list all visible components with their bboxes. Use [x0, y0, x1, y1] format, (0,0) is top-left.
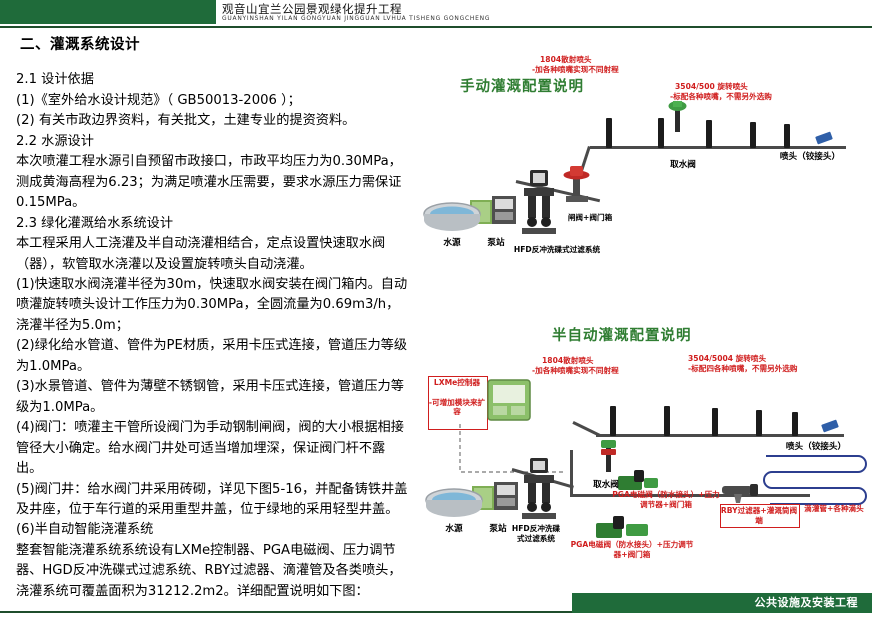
rby-filter-icon — [720, 474, 760, 504]
semi-water-source-icon — [424, 484, 484, 522]
diagram-semi-title: 半自动灌溉配置说明 — [552, 324, 692, 345]
semi-branch-pipe — [572, 421, 600, 437]
semi-sprinkler-riser-5 — [792, 412, 798, 436]
semi-label-drip-tube: 滴灌管+各种滴头 — [796, 504, 872, 514]
semi-sprinkler-riser-4 — [756, 410, 762, 436]
semi-label-rby-filter: RBY过滤器+灌溉筒阀端 — [720, 506, 798, 526]
diagram-manual-title: 手动灌溉配置说明 — [460, 75, 584, 96]
semi-sprinkler-body-blue — [821, 420, 839, 433]
paragraph-item-5: (5)阀门井：给水阀门井采用砖砌，详见下图5-16，并配备铸铁井盖及井座，位于车… — [16, 480, 411, 521]
controller-cabinet-icon — [486, 376, 532, 424]
paragraph-2-1-heading: 2.1 设计依据 — [16, 70, 411, 90]
annotation-semi-3504-desc: -标配四各种喷嘴，不需另外选购 — [688, 364, 797, 374]
semi-pipe-vertical-link — [570, 450, 573, 496]
annotation-semi-3504-title: 3504/5004 旋转喷头 — [688, 354, 766, 364]
semi-label-pga-upper: PGA电磁阀（防水接头）+压力调节器+阀门箱 — [612, 490, 720, 510]
page-header: 观音山宜兰公园景观绿化提升工程 GUANYINSHAN YILAN GONGYU… — [0, 0, 872, 28]
paragraph-item-2: (2)绿化给水管道、管件为PE材质，采用卡压式连接，管道压力等级为1.0MPa。 — [16, 336, 411, 377]
paragraph-item-3: (3)水景管道、管件为薄壁不锈钢管，采用卡压式连接，管道压力等级为1.0MPa。 — [16, 377, 411, 418]
annotation-1804-nozzle-desc: -加各种喷嘴实现不同射程 — [532, 65, 619, 75]
footer-rule — [0, 591, 574, 613]
diagram-manual-irrigation: 手动灌溉配置说明 1804散射喷头 -加各种喷嘴实现不同射程 3504/500 … — [420, 40, 872, 290]
semi-label-pga-lower: PGA电磁阀（防水接头）+压力调节器+阀门箱 — [570, 540, 694, 560]
paragraph-system-overview: 本工程采用人工浇灌及半自动浇灌相结合，定点设置快速取水阀（器），软管取水浇灌以及… — [16, 234, 411, 275]
water-source-icon — [422, 198, 482, 236]
semi-filter-cluster-icon — [516, 458, 564, 522]
sprinkler-riser-5 — [784, 124, 790, 148]
document-text-column: 二、灌溉系统设计 2.1 设计依据 (1)《室外给水设计规范》（ GB50013… — [16, 34, 411, 602]
paragraph-ref-1: (1)《室外给水设计规范》（ GB50013-2006 ）； — [16, 91, 411, 111]
sprinkler-riser-2 — [658, 118, 664, 148]
paragraph-2-3-heading: 2.3 绿化灌溉给水系统设计 — [16, 214, 411, 234]
semi-sprinkler-riser-3 — [712, 408, 718, 436]
label-sprinkler-head: 喷头（铰接头） — [770, 150, 850, 162]
semi-label-hfd-filter: HFD反冲洗碟式过滤系统 — [510, 524, 562, 544]
annotation-1804-nozzle-title: 1804散射喷头 — [540, 55, 592, 65]
annotation-semi-1804-desc: -加各种喷嘴实现不同射程 — [532, 366, 619, 376]
header-green-band — [0, 0, 216, 24]
paragraph-water-source: 本次喷灌工程水源引自预留市政接口，市政平均压力为0.30MPa，测成黄海高程为6… — [16, 152, 411, 213]
paragraph-2-2-heading: 2.2 水源设计 — [16, 132, 411, 152]
header-subtitle: GUANYINSHAN YILAN GONGYUAN JINGGUAN LVHU… — [222, 15, 490, 22]
paragraph-item-4: (4)阀门：喷灌主干管所设阀门为手动钢制闸阀，阀的大小根据相接管径大小确定。给水… — [16, 418, 411, 479]
label-lxme-controller-desc: -可增加模块来扩容 — [428, 398, 486, 417]
semi-sprinkler-riser-1 — [610, 406, 616, 436]
paragraph-item-6: (6)半自动智能浇灌系统 — [16, 520, 411, 540]
semi-main-pipe — [596, 434, 844, 437]
sprinkler-riser-1 — [606, 118, 612, 148]
paragraph-ref-2: (2) 有关市政边界资料，有关批文，土建专业的提资资料。 — [16, 111, 411, 131]
main-pipe-horizontal — [590, 146, 846, 149]
pga-valve-box-lower — [596, 514, 652, 540]
semi-sprinkler-riser-2 — [664, 406, 670, 436]
sprinkler-riser-4 — [750, 122, 756, 148]
label-water-source: 水源 — [430, 236, 474, 248]
semi-label-quick-valve: 取水阀 — [580, 478, 632, 490]
valve-green-icon — [665, 98, 691, 132]
label-hfd-filter-system: HFD反冲洗碟式过滤系统 — [502, 245, 612, 255]
label-quick-coupling-valve: 取水阀 — [658, 158, 708, 170]
annotation-semi-1804-title: 1804散射喷头 — [542, 356, 594, 366]
filter-cluster-icon — [516, 170, 564, 236]
section-title: 二、灌溉系统设计 — [20, 34, 411, 56]
semi-label-sprinkler-head: 喷头（铰接头） — [776, 440, 856, 452]
annotation-3504-rotor-title: 3504/500 旋转喷头 — [675, 82, 748, 92]
semi-label-water-source: 水源 — [432, 522, 476, 534]
label-gate-valve-box: 闸阀+阀门箱 — [552, 212, 628, 223]
sprinkler-riser-3 — [706, 120, 712, 148]
diagram-semi-auto-irrigation: 半自动灌溉配置说明 1804散射喷头 -加各种喷嘴实现不同射程 3504/500… — [420, 318, 872, 590]
footer-title: 公共设施及安装工程 — [755, 594, 859, 610]
sprinkler-body-blue — [815, 132, 833, 145]
drip-tube-loop — [762, 448, 870, 508]
paragraph-item-1: (1)快速取水阀浇灌半径为30m，快速取水阀安装在阀门箱内。自动喷灌旋转喷头设计… — [16, 275, 411, 336]
label-lxme-controller: LXMe控制器 — [428, 378, 486, 387]
page-footer: 公共设施及安装工程 — [0, 591, 872, 617]
